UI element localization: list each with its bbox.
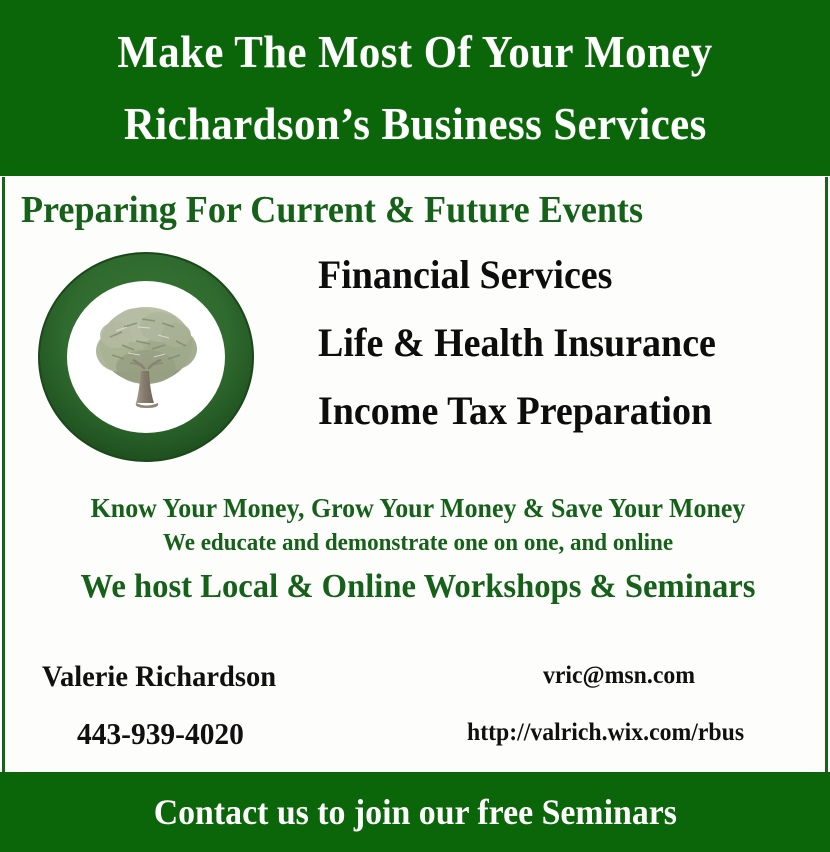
service-item-income-tax-preparation: Income Tax Preparation — [318, 391, 793, 431]
service-item-life-health-insurance: Life & Health Insurance — [318, 323, 793, 363]
company-logo — [38, 251, 254, 463]
contact-phone[interactable]: 443-939-4020 — [77, 716, 244, 752]
services-list: Financial Services Life & Health Insuran… — [318, 255, 818, 431]
header-banner: Make The Most Of Your Money Richardson’s… — [0, 0, 830, 176]
tagline-know-grow-save: Know Your Money, Grow Your Money & Save … — [31, 493, 805, 524]
tagline-block: Know Your Money, Grow Your Money & Save … — [15, 493, 821, 606]
content-panel: Preparing For Current & Future Events — [2, 177, 828, 772]
contact-row: Valerie Richardson vric@msn.com — [15, 660, 821, 704]
tagline-workshops-seminars: We host Local & Online Workshops & Semin… — [31, 567, 805, 606]
flyer-root: Make The Most Of Your Money Richardson’s… — [0, 0, 830, 852]
service-item-financial-services: Financial Services — [318, 255, 793, 295]
contact-name: Valerie Richardson — [42, 660, 276, 694]
footer-call-to-action: Contact us to join our free Seminars — [153, 794, 676, 830]
contact-website-link[interactable]: http://valrich.wix.com/rbus — [467, 719, 744, 747]
tagline-educate-demonstrate: We educate and demonstrate one on one, a… — [31, 529, 805, 558]
contact-block: Valerie Richardson vric@msn.com 443-939-… — [15, 660, 821, 760]
money-tree-logo-icon — [38, 251, 254, 463]
header-title-line-2: Richardson’s Business Services — [124, 101, 707, 147]
panel-subtitle: Preparing For Current & Future Events — [21, 191, 781, 231]
contact-email[interactable]: vric@msn.com — [543, 662, 695, 690]
footer-banner: Contact us to join our free Seminars — [0, 772, 830, 852]
contact-row: 443-939-4020 http://valrich.wix.com/rbus — [15, 716, 821, 760]
header-title-line-1: Make The Most Of Your Money — [117, 29, 712, 75]
